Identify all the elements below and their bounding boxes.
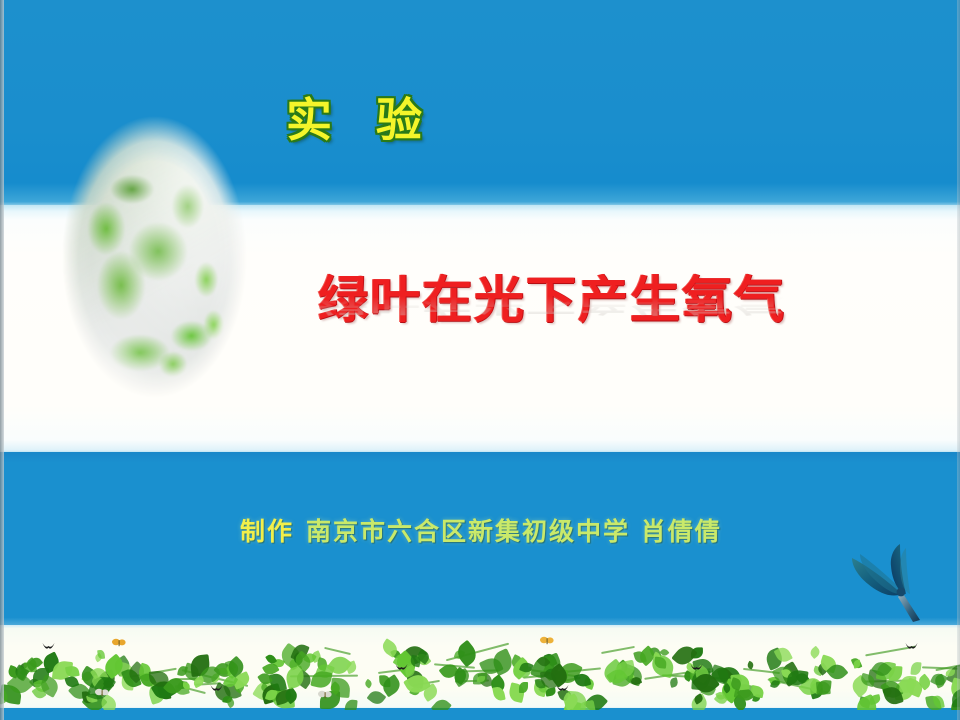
dragonfly-icon (838, 532, 956, 628)
butterfly-icon (95, 683, 108, 692)
bird-icon (556, 677, 568, 684)
butterfly-icon (112, 633, 125, 642)
ivy-leaf (430, 697, 451, 710)
ivy-leaf (182, 682, 190, 690)
presentation-slide: 实 验 绿叶在光下产生氧气 绿叶在光下产生氧气 制作南京市六合区新集初级中学 肖… (0, 0, 960, 720)
photo-highlight-overlay (62, 116, 247, 398)
ivy-leaf (344, 699, 357, 710)
vine-stem (601, 646, 635, 654)
ivy-leaf (519, 682, 528, 693)
credit-line: 制作南京市六合区新集初级中学 肖倩倩 (240, 512, 722, 548)
bird-icon (210, 677, 222, 684)
oval-photo-green-aquatic-plants (62, 116, 247, 398)
page-title: 绿叶在光下产生氧气 (318, 272, 888, 328)
bird-icon (905, 635, 917, 642)
bird-icon (42, 635, 54, 642)
credit-prefix-label: 制作 (240, 517, 294, 546)
ivy-leaf (476, 676, 484, 682)
slide-heading: 实 验 (286, 84, 436, 150)
ivy-leaf (808, 645, 821, 658)
ivy-leaf (669, 677, 679, 688)
bird-icon (395, 656, 407, 663)
main-title-group: 绿叶在光下产生氧气 绿叶在光下产生氧气 (318, 272, 888, 362)
ivy-leaf (363, 679, 373, 689)
butterfly-icon (318, 685, 331, 694)
credit-body-label: 南京市六合区新集初级中学 肖倩倩 (306, 517, 722, 546)
ivy-leaf (546, 688, 557, 697)
ivy-leaf (454, 640, 481, 668)
ivy-leaf-border-strip (0, 625, 960, 710)
frame-edge-left (0, 0, 4, 720)
ivy-leaf (910, 661, 921, 674)
ivy-leaf (97, 650, 104, 659)
vine-stem (324, 647, 351, 655)
butterfly-icon (540, 631, 553, 640)
bird-icon (690, 656, 702, 663)
